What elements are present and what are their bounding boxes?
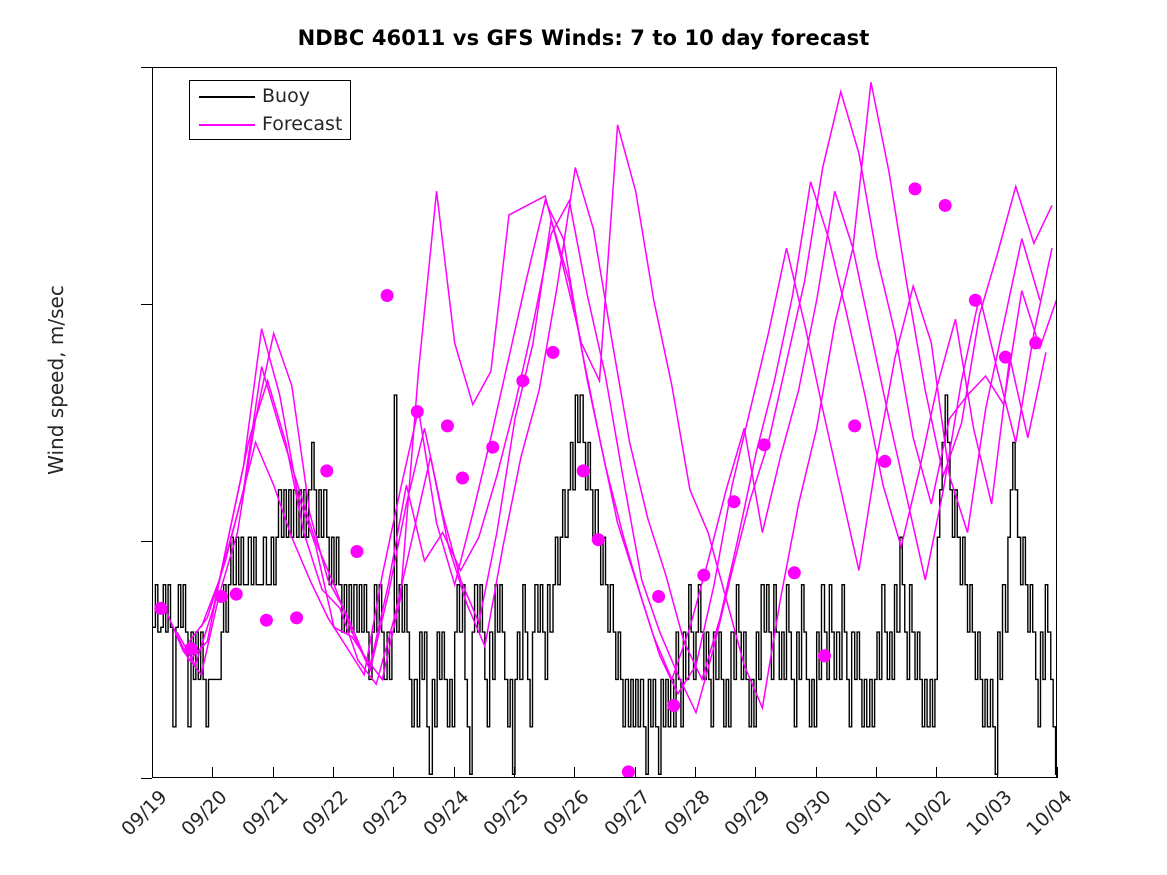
x-tick-mark xyxy=(152,767,153,778)
data-point-marker xyxy=(878,455,891,468)
data-point-marker xyxy=(969,294,982,307)
x-tick-mark xyxy=(997,767,998,778)
y-tick-mark xyxy=(141,67,152,68)
data-point-marker xyxy=(1029,336,1042,349)
series-line-forecast-3 xyxy=(177,168,1046,685)
x-tick-mark xyxy=(454,767,455,778)
x-tick-label: 09/21 xyxy=(236,786,293,843)
data-point-marker xyxy=(486,441,499,454)
x-tick-mark xyxy=(393,767,394,778)
legend-item-forecast: Forecast xyxy=(190,111,352,139)
data-point-marker xyxy=(999,351,1012,364)
x-tick-label: 10/03 xyxy=(960,786,1017,843)
data-point-marker xyxy=(260,614,273,627)
x-tick-mark xyxy=(1057,767,1058,778)
data-point-marker xyxy=(667,699,680,712)
series-line-buoy xyxy=(153,395,1057,774)
data-point-marker xyxy=(652,590,665,603)
legend-swatch-forecast xyxy=(199,124,255,126)
data-point-marker xyxy=(848,419,861,432)
legend-label-buoy: Buoy xyxy=(262,85,310,107)
x-tick-label: 10/01 xyxy=(839,786,896,843)
data-point-marker xyxy=(516,374,529,387)
data-point-marker xyxy=(320,464,333,477)
x-tick-mark xyxy=(635,767,636,778)
x-tick-mark xyxy=(212,767,213,778)
x-tick-label: 10/04 xyxy=(1020,786,1077,843)
chart-figure: NDBC 46011 vs GFS Winds: 7 to 10 day for… xyxy=(0,0,1167,875)
x-tick-label: 09/24 xyxy=(417,786,474,843)
data-point-marker xyxy=(592,533,605,546)
x-tick-mark xyxy=(876,767,877,778)
plot-area xyxy=(152,67,1057,778)
x-tick-label: 10/02 xyxy=(899,786,956,843)
data-point-marker xyxy=(728,495,741,508)
x-tick-mark xyxy=(273,767,274,778)
data-point-marker xyxy=(788,566,801,579)
data-point-marker xyxy=(215,590,228,603)
data-point-marker xyxy=(909,182,922,195)
x-tick-mark xyxy=(574,767,575,778)
x-tick-mark xyxy=(936,767,937,778)
legend: Buoy Forecast xyxy=(189,80,351,140)
data-point-marker xyxy=(577,464,590,477)
y-tick-mark xyxy=(141,778,152,779)
legend-item-buoy: Buoy xyxy=(190,83,352,111)
x-tick-mark xyxy=(514,767,515,778)
x-tick-label: 09/29 xyxy=(718,786,775,843)
x-tick-label: 09/30 xyxy=(779,786,836,843)
data-point-marker xyxy=(939,199,952,212)
x-tick-mark xyxy=(333,767,334,778)
x-tick-label: 09/19 xyxy=(115,786,172,843)
chart-title: NDBC 46011 vs GFS Winds: 7 to 10 day for… xyxy=(0,26,1167,50)
x-tick-mark xyxy=(816,767,817,778)
y-tick-mark xyxy=(141,541,152,542)
data-point-marker xyxy=(290,611,303,624)
x-tick-label: 09/26 xyxy=(537,786,594,843)
y-tick-mark xyxy=(141,304,152,305)
data-point-marker xyxy=(456,472,469,485)
x-tick-mark xyxy=(695,767,696,778)
data-point-marker xyxy=(758,438,771,451)
data-point-marker xyxy=(622,765,635,778)
data-point-marker xyxy=(350,545,363,558)
data-point-marker xyxy=(411,405,424,418)
data-point-marker xyxy=(381,289,394,302)
x-tick-label: 09/28 xyxy=(658,786,715,843)
x-tick-label: 09/27 xyxy=(598,786,655,843)
x-tick-label: 09/23 xyxy=(356,786,413,843)
legend-swatch-buoy xyxy=(199,96,255,98)
data-point-marker xyxy=(185,642,198,655)
x-tick-label: 09/20 xyxy=(175,786,232,843)
x-tick-mark xyxy=(755,767,756,778)
data-point-marker xyxy=(547,346,560,359)
plot-canvas xyxy=(153,68,1057,778)
x-tick-label: 09/25 xyxy=(477,786,534,843)
x-tick-label: 09/22 xyxy=(296,786,353,843)
data-point-marker xyxy=(441,419,454,432)
data-point-marker xyxy=(154,602,167,615)
legend-label-forecast: Forecast xyxy=(262,113,342,135)
data-point-marker xyxy=(818,649,831,662)
data-point-marker xyxy=(697,569,710,582)
data-point-marker xyxy=(230,588,243,601)
y-axis-label: Wind speed, m/sec xyxy=(44,70,68,690)
